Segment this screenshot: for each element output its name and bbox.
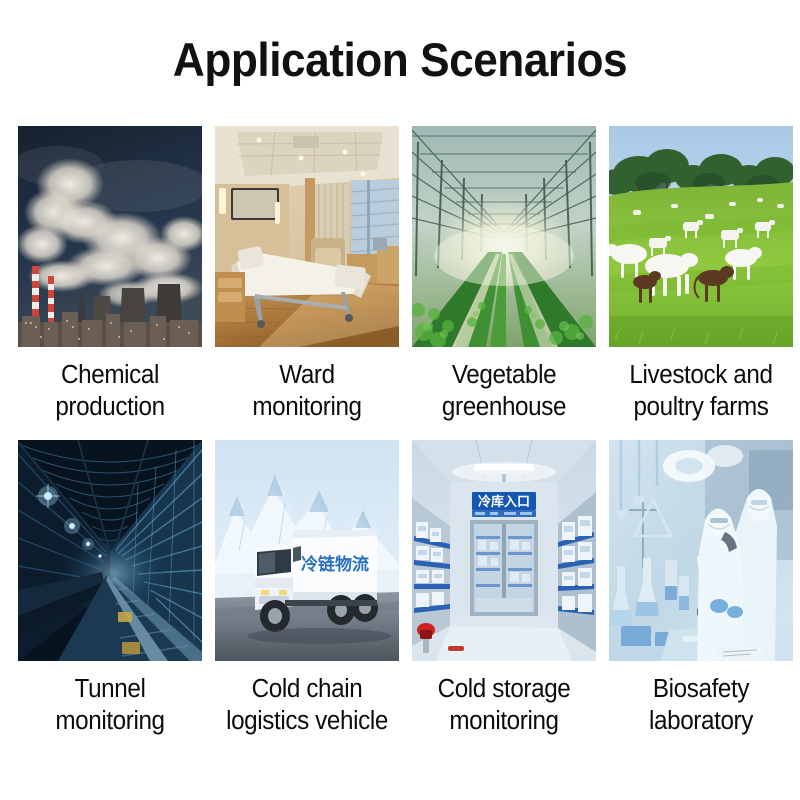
scenario-caption-ward-monitoring: Ward monitoring: [220, 359, 395, 423]
scenario-caption-biosafety-laboratory: Biosafety laboratory: [614, 673, 789, 737]
cold-storage-monitoring-image: 冷库入口: [412, 440, 596, 661]
caption-line-1: Cold chain: [220, 673, 395, 705]
scenario-caption-cold-chain-logistics-vehicle: Cold chain logistics vehicle: [220, 673, 395, 737]
truck-branding-text: 冷链物流: [301, 554, 369, 575]
scenario-caption-livestock-poultry-farms: Livestock and poultry farms: [614, 359, 789, 423]
chemical-production-image: [18, 126, 202, 347]
vegetable-greenhouse-image: [412, 126, 596, 347]
page-title: Application Scenarios: [24, 0, 776, 86]
caption-line-1: Tunnel: [23, 673, 198, 705]
tunnel-monitoring-image: [18, 440, 202, 661]
scenario-card-ward-monitoring[interactable]: Ward monitoring: [215, 126, 399, 423]
scenario-row-1: Chemical production: [18, 126, 784, 423]
ward-monitoring-image: [215, 126, 399, 347]
caption-line-2: logistics vehicle: [220, 705, 395, 737]
caption-line-2: monitoring: [417, 705, 592, 737]
scenario-grid: Chemical production: [18, 126, 784, 738]
scenario-card-chemical-production[interactable]: Chemical production: [18, 126, 202, 423]
scenario-row-2: Tunnel monitoring: [18, 440, 784, 737]
caption-line-2: laboratory: [614, 705, 789, 737]
scenario-card-cold-storage-monitoring[interactable]: 冷库入口: [412, 440, 596, 737]
caption-line-1: Biosafety: [614, 673, 789, 705]
caption-line-1: Ward: [220, 359, 395, 391]
caption-line-1: Livestock and: [614, 359, 789, 391]
scenario-card-tunnel-monitoring[interactable]: Tunnel monitoring: [18, 440, 202, 737]
cold-chain-logistics-vehicle-image: 冷链物流: [215, 440, 399, 661]
caption-line-1: Cold storage: [417, 673, 592, 705]
livestock-poultry-farms-image: [609, 126, 793, 347]
scenario-caption-cold-storage-monitoring: Cold storage monitoring: [417, 673, 592, 737]
scenario-card-vegetable-greenhouse[interactable]: Vegetable greenhouse: [412, 126, 596, 423]
scenario-card-biosafety-laboratory[interactable]: Biosafety laboratory: [609, 440, 793, 737]
caption-line-2: production: [23, 391, 198, 423]
caption-line-2: monitoring: [220, 391, 395, 423]
scenario-card-cold-chain-logistics-vehicle[interactable]: 冷链物流: [215, 440, 399, 737]
scenario-caption-chemical-production: Chemical production: [23, 359, 198, 423]
caption-line-1: Chemical: [23, 359, 198, 391]
scenario-card-livestock-poultry-farms[interactable]: Livestock and poultry farms: [609, 126, 793, 423]
scenario-caption-vegetable-greenhouse: Vegetable greenhouse: [417, 359, 592, 423]
application-scenarios-page: Application Scenarios: [0, 0, 800, 800]
caption-line-2: greenhouse: [417, 391, 592, 423]
cold-storage-sign-text: 冷库入口: [478, 494, 530, 510]
scenario-caption-tunnel-monitoring: Tunnel monitoring: [23, 673, 198, 737]
caption-line-1: Vegetable: [417, 359, 592, 391]
biosafety-laboratory-image: [609, 440, 793, 661]
caption-line-2: poultry farms: [614, 391, 789, 423]
caption-line-2: monitoring: [23, 705, 198, 737]
